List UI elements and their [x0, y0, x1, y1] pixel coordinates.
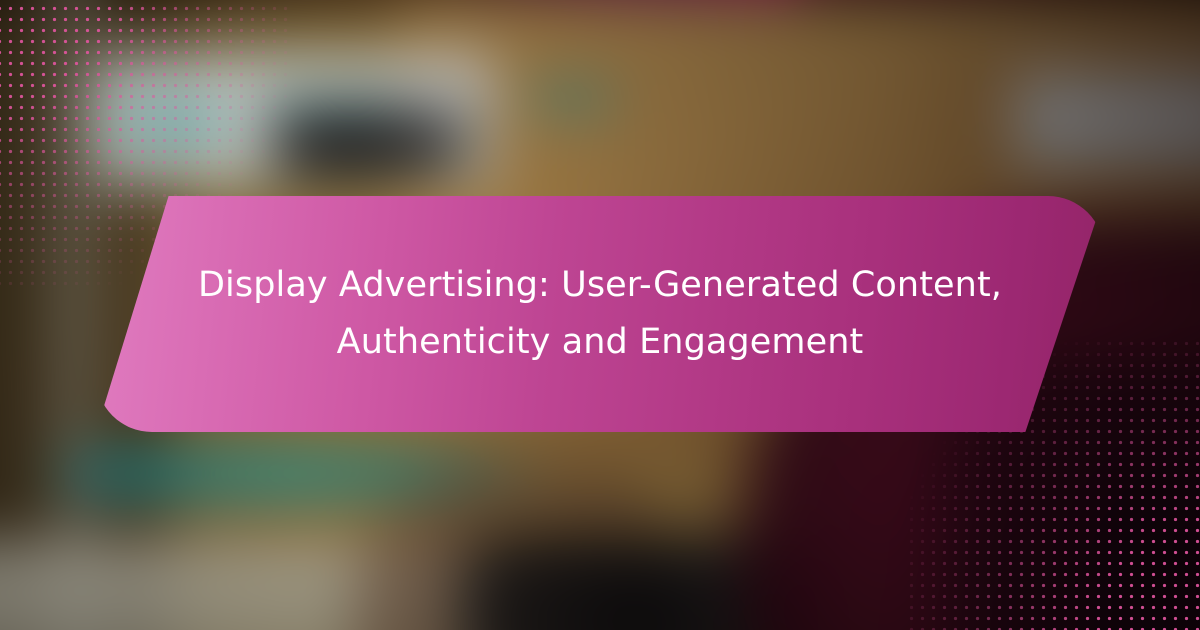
title-banner: Display Advertising: User-Generated Cont…: [96, 196, 1104, 432]
title-line-1: Display Advertising: User-Generated Cont…: [198, 257, 1002, 314]
title-line-2: Authenticity and Engagement: [337, 314, 864, 371]
banner-title: Display Advertising: User-Generated Cont…: [96, 196, 1104, 432]
hero-card: Display Advertising: User-Generated Cont…: [0, 0, 1200, 630]
